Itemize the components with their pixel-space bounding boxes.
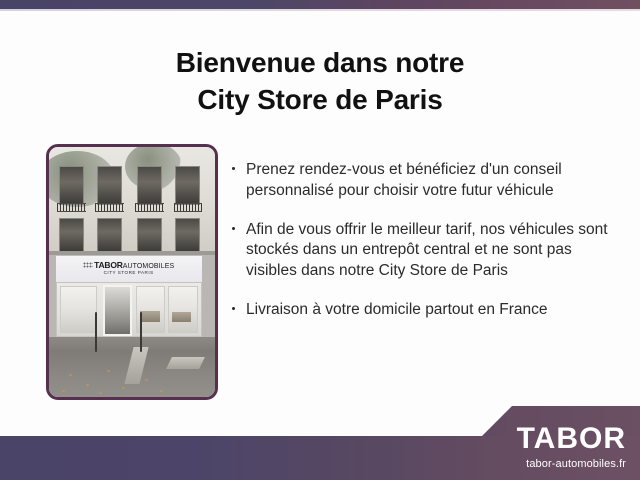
- top-accent-bar: [0, 0, 640, 9]
- top-accent-hairline: [0, 9, 640, 11]
- storefront-photo: TABORAUTOMOBILES CITY STORE PARIS: [49, 147, 215, 397]
- bullet-text: Afin de vous offrir le meilleur tarif, n…: [246, 220, 624, 282]
- facade-window: [97, 166, 122, 205]
- shop-window-pane: [168, 286, 198, 333]
- logo-dots-icon: [83, 262, 93, 268]
- facade-window: [137, 218, 162, 252]
- slide-title: Bienvenue dans notre City Store de Paris: [0, 45, 640, 119]
- storefront-sign-brand: TABOR: [94, 260, 123, 270]
- storefront-sign: TABORAUTOMOBILES CITY STORE PARIS: [56, 255, 202, 285]
- slide-title-line-2: City Store de Paris: [0, 82, 640, 119]
- bullet-list: Prenez rendez-vous et bénéficiez d'un co…: [232, 160, 624, 321]
- facade-window: [175, 166, 200, 205]
- storefront-sign-suffix: AUTOMOBILES: [123, 263, 175, 270]
- bullet-dot-icon: [232, 220, 246, 230]
- list-item: Livraison à votre domicile partout en Fr…: [232, 300, 624, 321]
- balcony-railing: [135, 203, 163, 213]
- street-bollard: [140, 312, 142, 352]
- list-item: Prenez rendez-vous et bénéficiez d'un co…: [232, 160, 624, 202]
- list-item: Afin de vous offrir le meilleur tarif, n…: [232, 220, 624, 282]
- fallen-leaf: [86, 384, 89, 386]
- bullet-text: Livraison à votre domicile partout en Fr…: [246, 300, 624, 321]
- storefront-sign-subtitle: CITY STORE PARIS: [83, 271, 174, 276]
- facade-window: [59, 166, 84, 205]
- fallen-leaf: [107, 370, 110, 372]
- shop-interior-counter: [140, 311, 160, 323]
- facade-window: [59, 218, 84, 252]
- fallen-leaf: [69, 374, 72, 376]
- presentation-slide: Bienvenue dans notre City Store de Paris: [0, 0, 640, 480]
- storefront-sign-main: TABORAUTOMOBILES: [83, 261, 174, 270]
- brand-url: tabor-automobiles.fr: [517, 459, 626, 470]
- brand-logo: TABOR tabor-automobiles.fr: [517, 424, 626, 470]
- brand-name: TABOR: [517, 424, 626, 454]
- facade-window: [137, 166, 162, 205]
- kerb-block: [166, 357, 205, 369]
- facade-window: [97, 218, 122, 252]
- fallen-leaf: [145, 379, 148, 381]
- slide-title-line-1: Bienvenue dans notre: [0, 45, 640, 82]
- balcony-railing: [95, 203, 123, 213]
- bullet-dot-icon: [232, 160, 246, 170]
- facade-window: [175, 218, 200, 252]
- building-facade: [49, 147, 215, 255]
- pavement: [49, 337, 215, 397]
- shop-entrance-door: [103, 285, 132, 336]
- fallen-leaf: [160, 390, 163, 392]
- balcony-railing: [57, 203, 85, 213]
- storefront-photo-frame: TABORAUTOMOBILES CITY STORE PARIS: [46, 144, 218, 400]
- bullet-dot-icon: [232, 300, 246, 310]
- shop-window-pane: [60, 286, 97, 333]
- shop-interior-desk: [172, 312, 191, 322]
- fallen-leaf: [62, 390, 65, 392]
- balcony-railing: [174, 203, 202, 213]
- fallen-leaf: [99, 392, 102, 394]
- fallen-leaf: [122, 387, 125, 389]
- shopfront-glazing: [56, 282, 202, 337]
- bullet-text: Prenez rendez-vous et bénéficiez d'un co…: [246, 160, 624, 202]
